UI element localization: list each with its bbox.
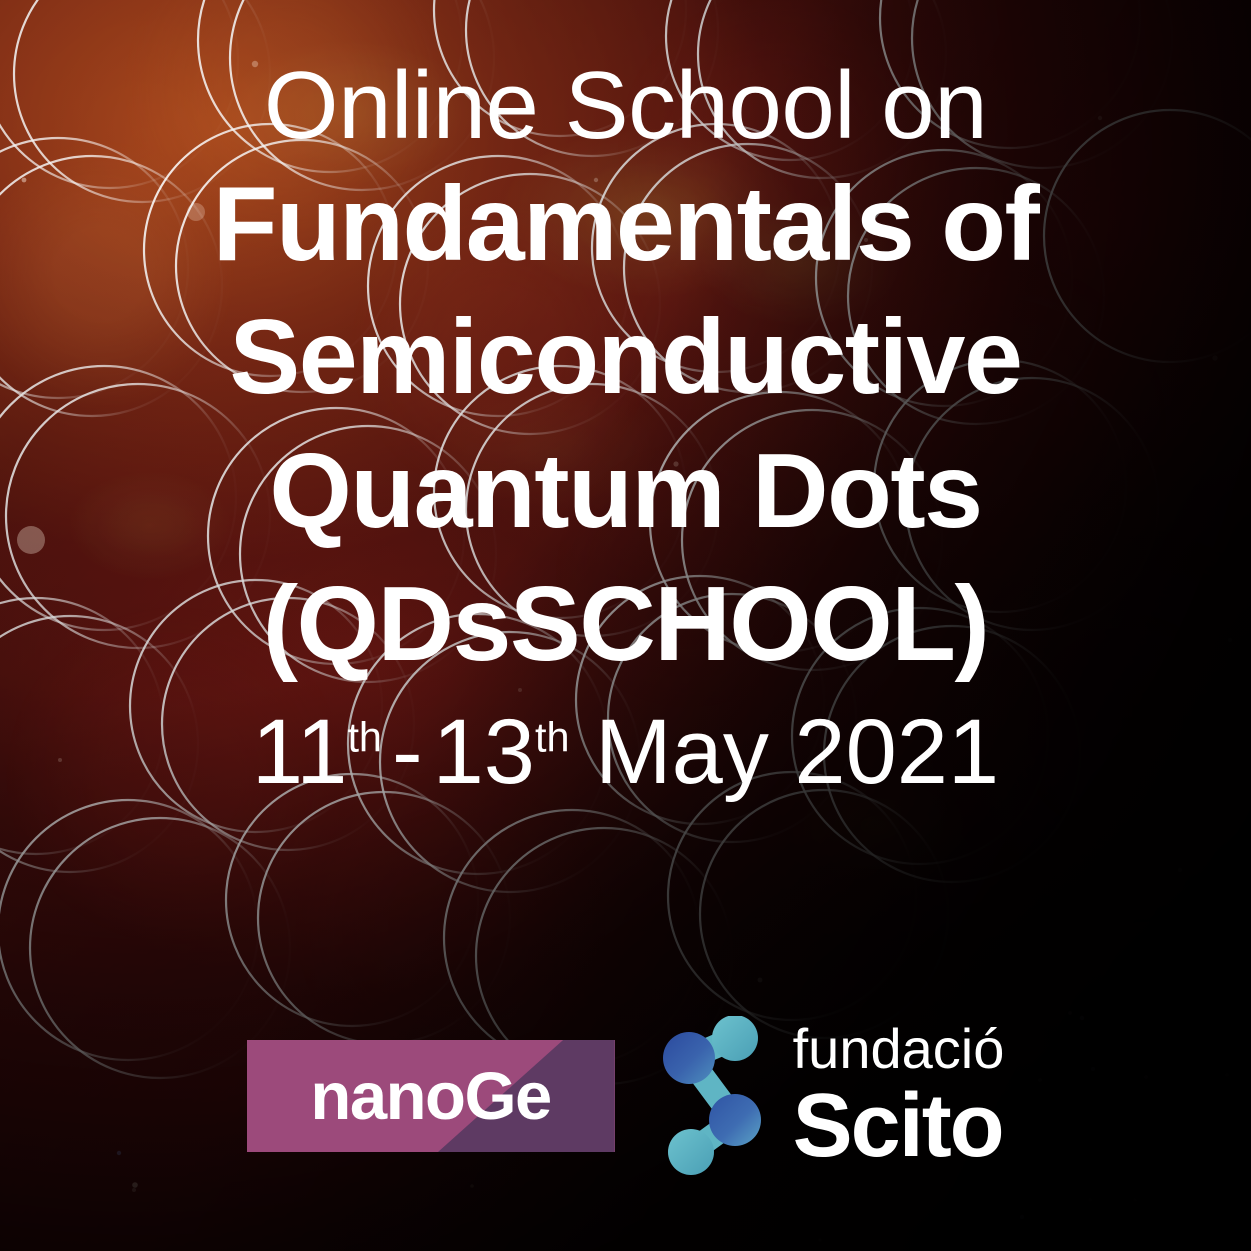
scito-line-name: Scito bbox=[793, 1081, 1003, 1171]
date-start-day: 11 bbox=[252, 701, 348, 803]
title-line-4: (QDsSCHOOL) bbox=[0, 558, 1251, 692]
date-start-ordinal: th bbox=[347, 714, 382, 760]
date-month-year: May 2021 bbox=[595, 701, 999, 803]
headline-block: Online School on Fundamentals of Semicon… bbox=[0, 0, 1251, 803]
nanoge-logo[interactable]: nanoGe bbox=[247, 1040, 615, 1152]
fundacio-scito-logo[interactable]: fundació Scito bbox=[659, 1016, 1005, 1176]
scito-wordmark: fundació Scito bbox=[793, 1021, 1005, 1171]
title-line-2: Semiconductive bbox=[0, 291, 1251, 425]
title-line-3: Quantum Dots bbox=[0, 425, 1251, 559]
pre-title: Online School on bbox=[0, 54, 1251, 158]
molecule-s-node-icon bbox=[659, 1016, 771, 1176]
title-line-1: Fundamentals of bbox=[0, 158, 1251, 292]
date-end-day: 13 bbox=[433, 701, 535, 803]
date-separator: - bbox=[382, 701, 433, 803]
nanoge-wordmark: nanoGe bbox=[310, 1063, 550, 1130]
poster-canvas: Online School on Fundamentals of Semicon… bbox=[0, 0, 1251, 1251]
date-end-ordinal: th bbox=[535, 714, 570, 760]
scito-line-fundacio: fundació bbox=[793, 1021, 1005, 1077]
logo-row: nanoGe bbox=[0, 1016, 1251, 1176]
event-date: 11th-13th May 2021 bbox=[0, 702, 1251, 803]
